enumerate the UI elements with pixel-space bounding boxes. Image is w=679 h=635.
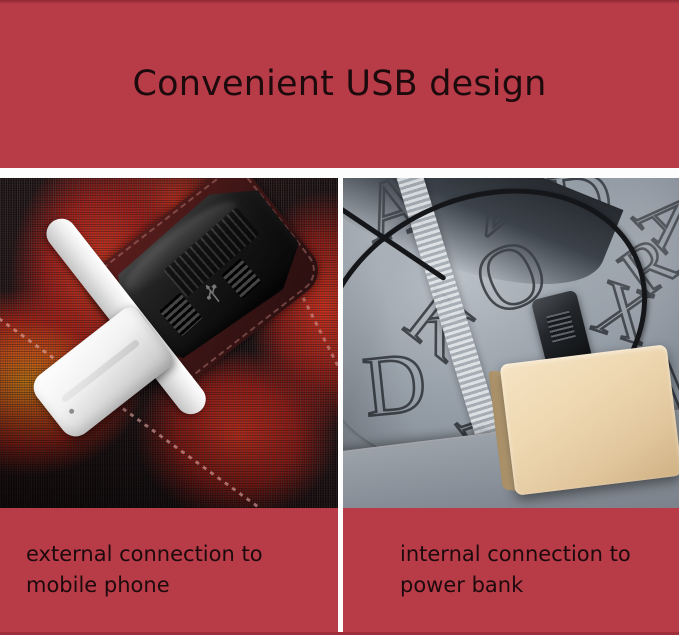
usb-design-infographic: Convenient USB design [0, 0, 679, 635]
power-bank [500, 344, 679, 495]
caption-right-line-2: power bank [400, 570, 679, 601]
usb-plug-dot [68, 408, 75, 415]
photo-external-usb-connection [0, 178, 338, 508]
caption-row: external connection to mobile phone inte… [0, 508, 679, 632]
caption-right-line-1: internal connection to [400, 539, 679, 570]
power-bank-face [500, 344, 679, 495]
header-photo-gutter [0, 168, 679, 178]
caption-external-connection: external connection to mobile phone [0, 508, 338, 632]
usb-plug-seam [61, 339, 140, 403]
caption-left-line-1: external connection to [26, 539, 338, 570]
caption-internal-connection: internal connection to power bank [343, 508, 679, 632]
page-title: Convenient USB design [132, 64, 546, 104]
photo-internal-powerbank-connection: A V D A K O X R D A N B A V D [343, 178, 679, 508]
caption-left-line-2: mobile phone [26, 570, 338, 601]
header-banner: Convenient USB design [0, 4, 679, 168]
photo-row: A V D A K O X R D A N B A V D [0, 178, 679, 508]
